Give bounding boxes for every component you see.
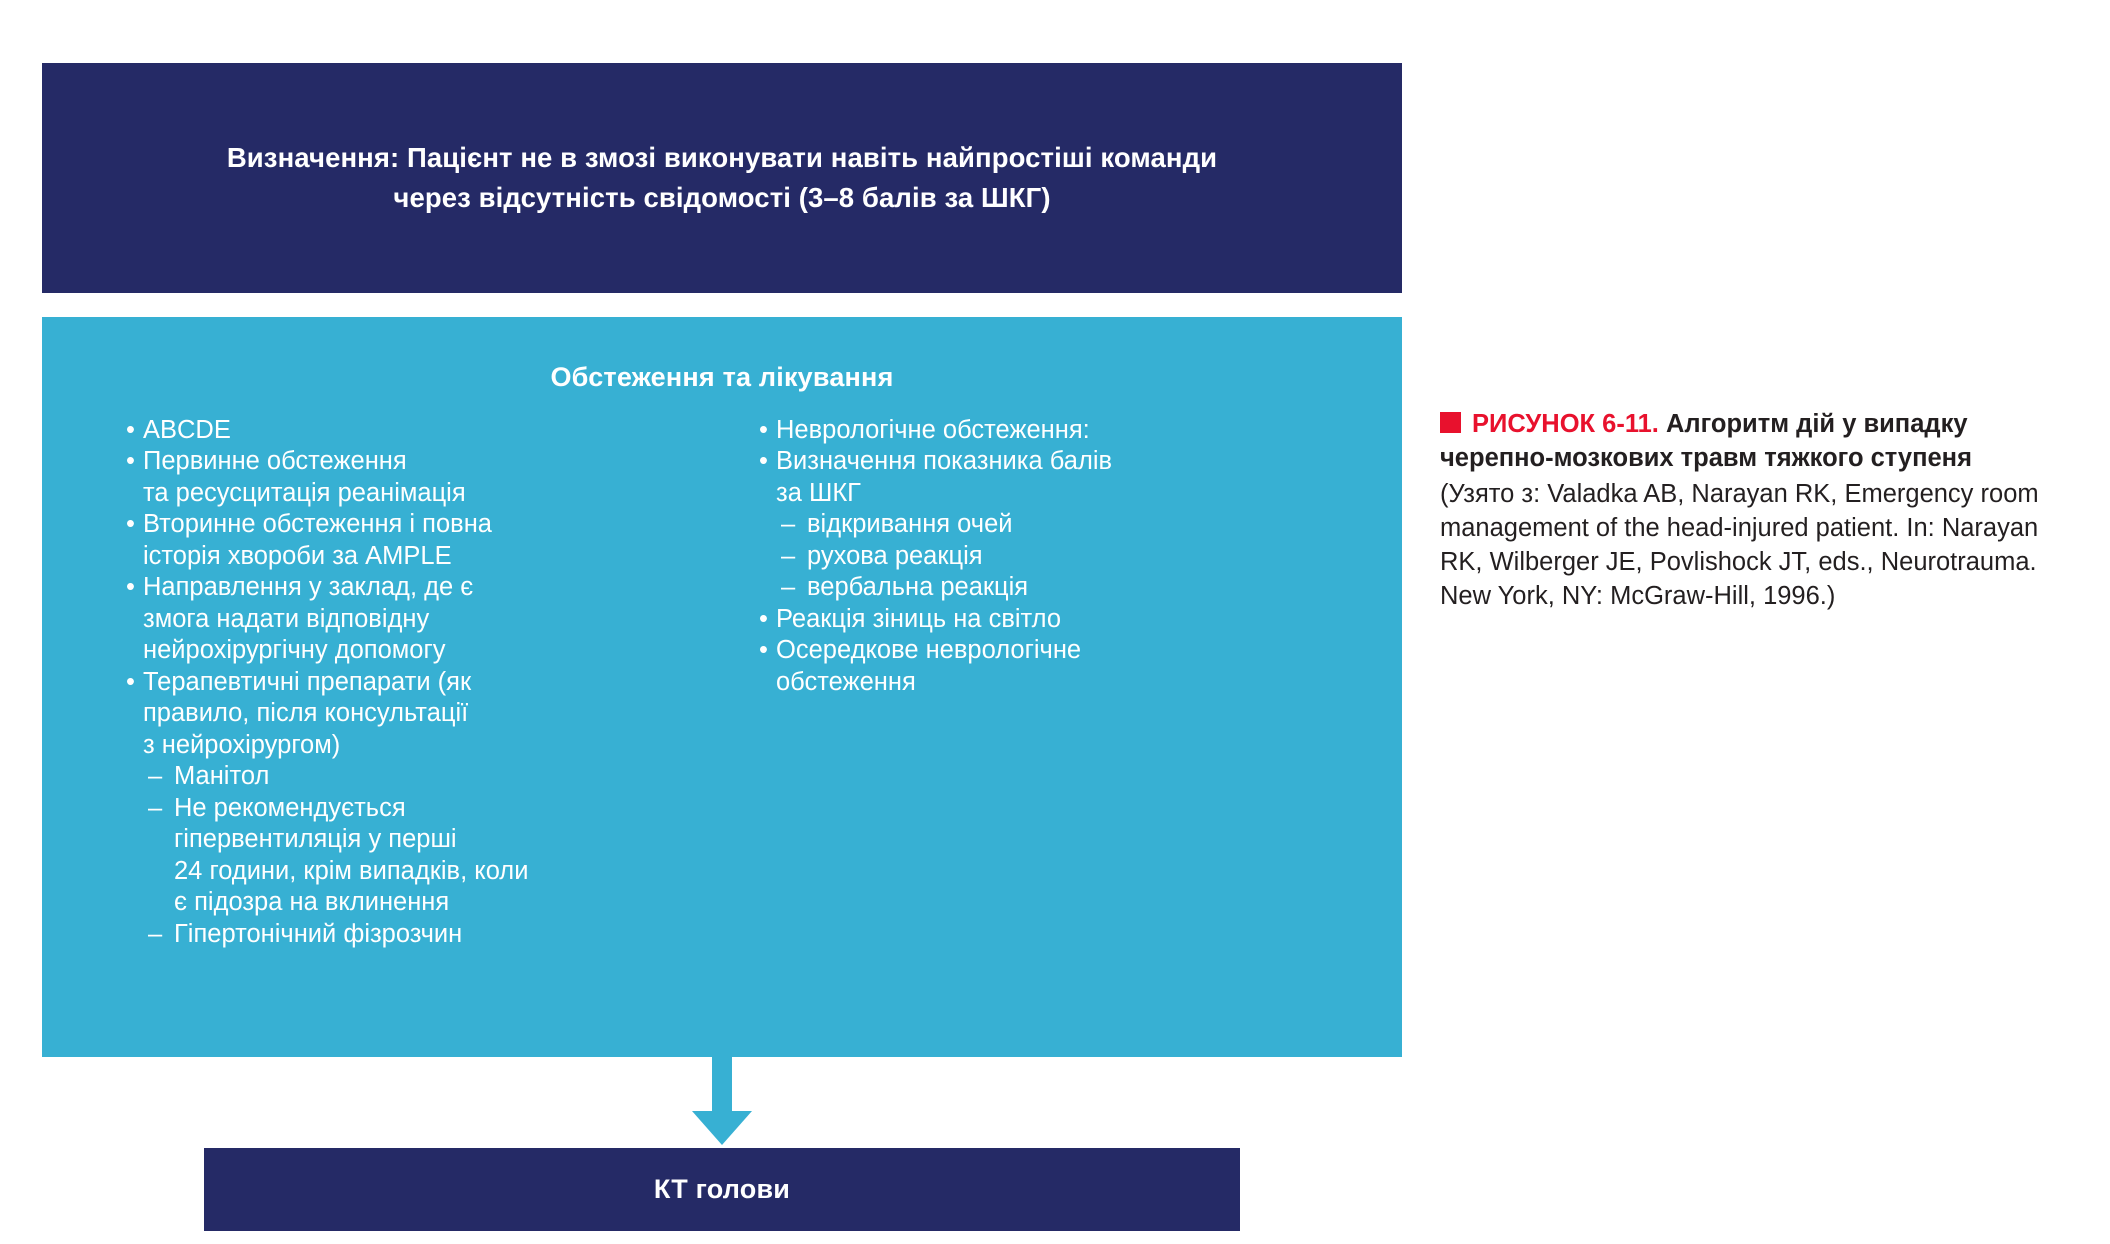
caption-source: (Узято з: Valadka AB, Narayan RK, Emerge… xyxy=(1440,478,2070,614)
bullet-item: Терапевтичні препарати (як правило, післ… xyxy=(126,667,697,761)
flowchart: Визначення: Пацієнт не в змозі виконуват… xyxy=(42,0,1402,1244)
treatment-columns: ABCDEПервинне обстеження та ресусцитація… xyxy=(42,415,1402,950)
square-marker-icon xyxy=(1440,412,1461,433)
definition-box: Визначення: Пацієнт не в змозі виконуват… xyxy=(42,63,1402,293)
caption-figure-number: РИСУНОК 6-11. xyxy=(1472,410,1659,438)
caption-title: РИСУНОК 6-11. Алгоритм дій у випадку чер… xyxy=(1440,408,2070,476)
treatment-box-title: Обстеження та лікування xyxy=(42,362,1402,393)
sub-bullet-item: Гіпертонічний фізрозчин xyxy=(126,919,697,950)
bullet-item: Реакція зіниць на світло xyxy=(759,604,1317,635)
bullet-item: Осередкове неврологічне обстеження xyxy=(759,635,1317,698)
figure-caption: РИСУНОК 6-11. Алгоритм дій у випадку чер… xyxy=(1440,408,2070,613)
arrow-head-icon xyxy=(692,1111,752,1145)
sub-bullet-item: Манітол xyxy=(126,761,697,792)
bullet-item: Неврологічне обстеження: xyxy=(759,415,1317,446)
ct-head-box: КТ голови xyxy=(204,1148,1240,1231)
treatment-right-column: Неврологічне обстеження:Визначення показ… xyxy=(697,415,1317,950)
sub-bullet-item: відкривання очей xyxy=(759,509,1317,540)
right-bullet-list: Неврологічне обстеження:Визначення показ… xyxy=(759,415,1317,698)
sub-bullet-item: Не рекомендується гіпервентиляція у перш… xyxy=(126,793,697,919)
bullet-item: Вторинне обстеження і повна історія хвор… xyxy=(126,509,697,572)
bullet-item: Направлення у заклад, де є змога надати … xyxy=(126,572,697,666)
treatment-box: Обстеження та лікування ABCDEПервинне об… xyxy=(42,317,1402,1057)
left-bullet-list: ABCDEПервинне обстеження та ресусцитація… xyxy=(126,415,697,950)
arrow-stem xyxy=(712,1057,732,1115)
sub-bullet-item: вербальна реакція xyxy=(759,572,1317,603)
flow-arrow xyxy=(42,1057,1402,1147)
sub-bullet-item: рухова реакція xyxy=(759,541,1317,572)
bullet-item: Визначення показника балів за ШКГ xyxy=(759,446,1317,509)
bullet-item: Первинне обстеження та ресусцитація реан… xyxy=(126,446,697,509)
ct-head-label: КТ голови xyxy=(654,1174,790,1205)
treatment-left-column: ABCDEПервинне обстеження та ресусцитація… xyxy=(42,415,697,950)
definition-text: Визначення: Пацієнт не в змозі виконуват… xyxy=(92,138,1352,218)
bullet-item: ABCDE xyxy=(126,415,697,446)
